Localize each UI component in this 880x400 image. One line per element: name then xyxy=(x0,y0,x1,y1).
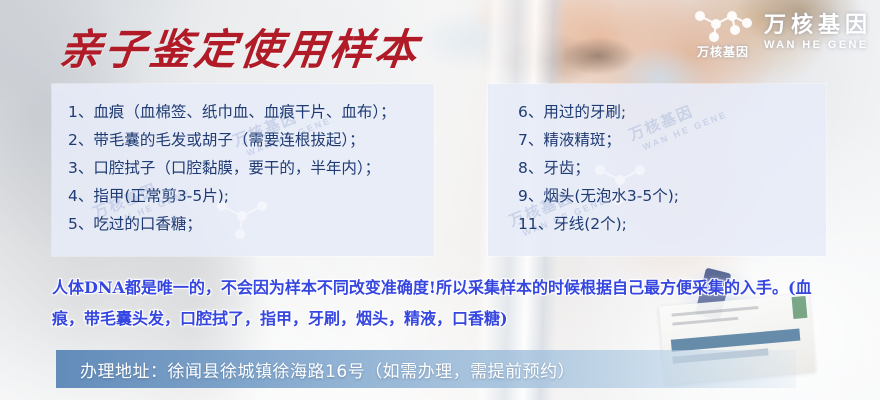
brand-name-cn: 万核基因 xyxy=(764,12,872,37)
brand-logo: 万核基因 万核基因 WAN HE GENE xyxy=(692,6,872,58)
address-banner: 办理地址：徐闻县徐城镇徐海路16号（如需办理，需提前预约） xyxy=(56,350,796,388)
list-item: 2、带毛囊的毛发或胡子（需要连根拔起）； xyxy=(68,126,434,154)
list-item: 6、用过的牙刷; xyxy=(518,98,826,126)
list-item: 1、血痕（血棉签、纸巾血、血痕干片、血布）； xyxy=(68,98,434,126)
brand-name-en: WAN HE GENE xyxy=(764,39,872,52)
list-item: 3、口腔拭子（口腔黏膜，要干的，半年内）； xyxy=(68,154,434,182)
list-item: 9、烟头(无泡水3-5个); xyxy=(518,182,826,210)
sample-list-right: 6、用过的牙刷; 7、精液精斑； 8、牙齿； 9、烟头(无泡水3-5个); 11… xyxy=(488,84,826,238)
brand-mark-label: 万核基因 xyxy=(692,43,754,60)
address-text: 办理地址：徐闻县徐城镇徐海路16号（如需办理，需提前预约） xyxy=(56,357,575,382)
list-item: 8、牙齿； xyxy=(518,154,826,182)
poster-root: 亲子鉴定使用样本 万核基因 xyxy=(0,0,880,400)
list-item: 5、吃过的口香糖； xyxy=(68,210,434,238)
brand-names: 万核基因 WAN HE GENE xyxy=(764,12,872,52)
page-title: 亲子鉴定使用样本 xyxy=(56,16,424,77)
sample-list-left: 1、血痕（血棉签、纸巾血、血痕干片、血布）； 2、带毛囊的毛发或胡子（需要连根拔… xyxy=(52,84,434,238)
list-item: 11、牙线(2个); xyxy=(518,210,826,238)
list-item: 4、指甲(正常剪3-5片); xyxy=(68,182,434,210)
molecule-node-icon: 万核基因 xyxy=(692,6,754,58)
sample-list-panel-left: 万核基因 WAN HE GENE 万核基因 WAN HE GENE 1、血痕（血… xyxy=(52,84,434,256)
sample-list-panel-right: 万核基因 WAN HE GENE 万核基因 WAN HE GENE 6、用过的牙… xyxy=(488,84,826,256)
list-item: 7、精液精斑； xyxy=(518,126,826,154)
note-paragraph: 人体DNA都是唯一的，不会因为样本不同改变准确度!所以采集样本的时候根据自己最方… xyxy=(52,272,842,334)
